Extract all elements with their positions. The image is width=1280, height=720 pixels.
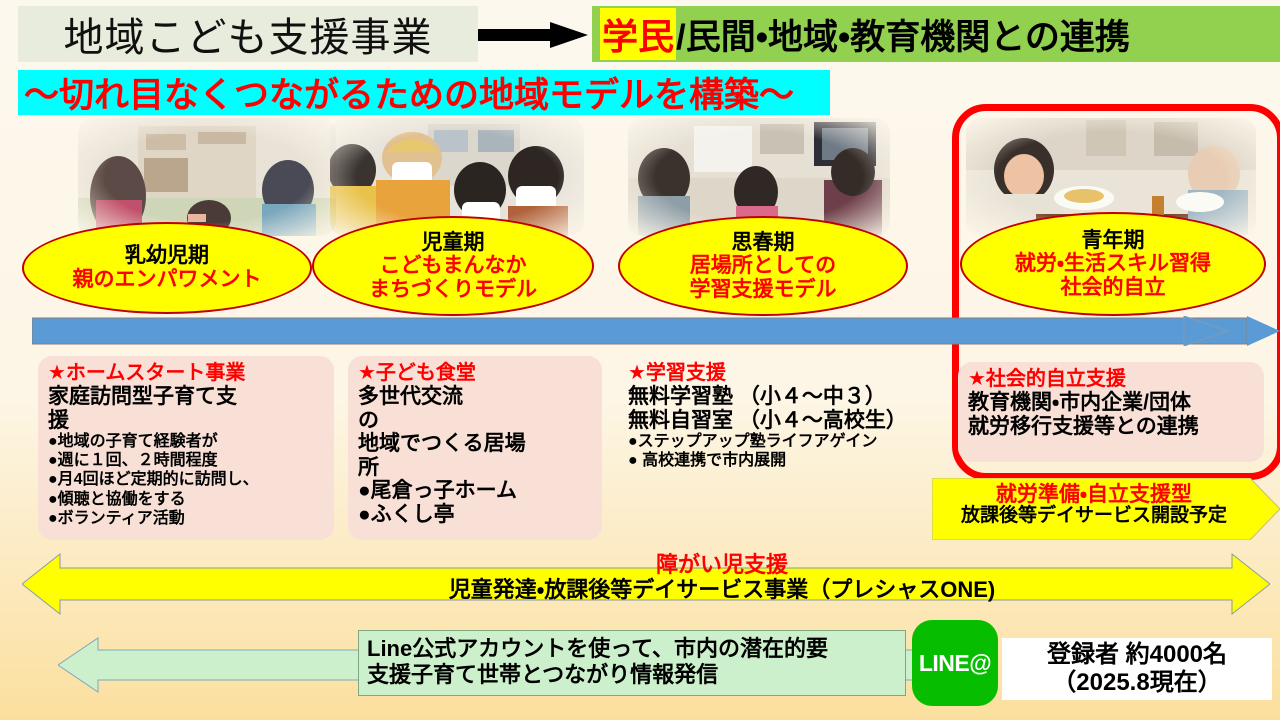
program-body-line: 教育機関・市内企業/団体 bbox=[968, 391, 1256, 415]
stage-line2: 居場所としての bbox=[690, 254, 836, 278]
disability-support-arrow: 障がい児支援 児童発達・放課後等デイサービス事業（プレシャスONE) bbox=[22, 550, 1270, 618]
program-body-line: 多世代交流 bbox=[358, 385, 594, 409]
program-bullet: ●尾倉っ子ホーム bbox=[358, 479, 594, 503]
program-heading: ★学習支援 bbox=[628, 362, 950, 385]
partnership-highlight: 学民 bbox=[600, 8, 676, 60]
registrants-count: 登録者 約4000名 bbox=[1047, 641, 1227, 669]
partnership-text: /民間•地域•教育機関との連携 bbox=[676, 9, 1130, 60]
stage-title: 乳幼児期 bbox=[125, 244, 209, 268]
callout-line2: 放課後等デイサービス開設予定 bbox=[944, 506, 1244, 527]
program-heading: ★ホームスタート事業 bbox=[48, 362, 326, 385]
line-message-line1: Line公式アカウントを使って、市内の潜在的要 bbox=[367, 636, 897, 662]
stage-line2: こどもまんなか bbox=[380, 254, 527, 278]
program-box-childrens-cafeteria: ★子ども食堂 多世代交流 の 地域でつくる居場 所 ●尾倉っ子ホーム ●ふくし亭 bbox=[348, 356, 602, 540]
stage-title: 青年期 bbox=[1082, 229, 1145, 253]
stage-ellipse-adolescence: 思春期 居場所としての 学習支援モデル bbox=[618, 216, 908, 316]
program-box-home-start: ★ホームスタート事業 家庭訪問型子育て支 援 ●地域の子育て経験者が ●週に１回… bbox=[38, 356, 334, 540]
program-heading: ★子ども食堂 bbox=[358, 362, 594, 385]
page-title: 地域こども支援事業 bbox=[64, 5, 433, 63]
program-heading: ★社会的自立支援 bbox=[968, 368, 1256, 391]
program-bullet: ●週に１回、２時間程度 bbox=[48, 451, 326, 470]
stage-ellipse-infancy: 乳幼児期 親のエンパワメント bbox=[22, 222, 312, 314]
stage-line2: 親のエンパワメント bbox=[73, 268, 262, 292]
right-arrow-icon bbox=[478, 22, 588, 48]
callout-arrow-employment-prep: 就労準備・自立支援型 放課後等デイサービス開設予定 bbox=[932, 478, 1280, 540]
line-logo-icon: LINE@ bbox=[912, 620, 998, 706]
program-bullet: ●ふくし亭 bbox=[358, 503, 594, 527]
program-body-line: 地域でつくる居場 bbox=[358, 432, 594, 456]
program-box-learning-support: ★学習支援 無料学習塾 （小４～中３） 無料自習室 （小４～高校生） ●ステップ… bbox=[618, 356, 958, 496]
registrants-box: 登録者 約4000名 （2025.8現在） bbox=[1002, 638, 1272, 700]
stage-line3: まちづくりモデル bbox=[369, 278, 537, 302]
subtitle-band: ～切れ目なくつながるための地域モデルを構築～ bbox=[18, 70, 830, 115]
callout-line1: 就労準備・自立支援型 bbox=[944, 483, 1244, 506]
disability-support-title: 障がい児支援 bbox=[372, 553, 1072, 578]
program-bullet: ● 高校連携で市内展開 bbox=[628, 451, 950, 470]
stage-ellipse-youth: 青年期 就労・生活スキル習得 社会的自立 bbox=[960, 212, 1266, 316]
stage-ellipse-childhood: 児童期 こどもまんなか まちづくりモデル bbox=[312, 216, 594, 316]
program-body-line: 無料自習室 （小４～高校生） bbox=[628, 409, 950, 433]
line-logo-label: LINE@ bbox=[919, 650, 991, 677]
partnership-band: 学民 /民間•地域•教育機関との連携 bbox=[592, 6, 1280, 62]
stage-line3: 社会的自立 bbox=[1061, 276, 1166, 300]
line-message-box: Line公式アカウントを使って、市内の潜在的要 支援子育て世帯とつながり情報発信 bbox=[358, 630, 906, 696]
subtitle-text: ～切れ目なくつながるための地域モデルを構築～ bbox=[18, 67, 794, 118]
program-bullet: ●傾聴と協働をする bbox=[48, 490, 326, 509]
program-bullet: ●地域の子育て経験者が bbox=[48, 432, 326, 451]
program-bullet: ●ステップアップ塾ライフアゲイン bbox=[628, 432, 950, 451]
stage-photo-infancy bbox=[78, 118, 336, 236]
program-body-line: 家庭訪問型子育て支 bbox=[48, 385, 326, 409]
program-bullet: ●月4回ほど定期的に訪問し、 bbox=[48, 470, 326, 489]
line-message-line2: 支援子育て世帯とつながり情報発信 bbox=[367, 662, 897, 688]
timeline-arrow bbox=[32, 316, 1280, 346]
disability-support-detail: 児童発達・放課後等デイサービス事業（プレシャスONE) bbox=[372, 578, 1072, 603]
program-body-line: 無料学習塾 （小４～中３） bbox=[628, 385, 950, 409]
program-body-line: 所 bbox=[358, 456, 594, 480]
program-body-line: 援 bbox=[48, 409, 326, 433]
program-body-line: 就労移行支援等との連携 bbox=[968, 415, 1256, 439]
program-body-line: の bbox=[358, 409, 594, 433]
stage-line2: 就労・生活スキル習得 bbox=[1015, 252, 1211, 276]
program-bullet: ●ボランティア活動 bbox=[48, 509, 326, 528]
stage-title: 思春期 bbox=[732, 231, 795, 255]
registrants-date: （2025.8現在） bbox=[1052, 669, 1221, 697]
stage-line3: 学習支援モデル bbox=[690, 278, 837, 302]
program-box-social-independence: ★社会的自立支援 教育機関・市内企業/団体 就労移行支援等との連携 bbox=[958, 362, 1264, 462]
stage-title: 児童期 bbox=[422, 231, 485, 255]
program-title-band: 地域こども支援事業 bbox=[18, 6, 478, 62]
